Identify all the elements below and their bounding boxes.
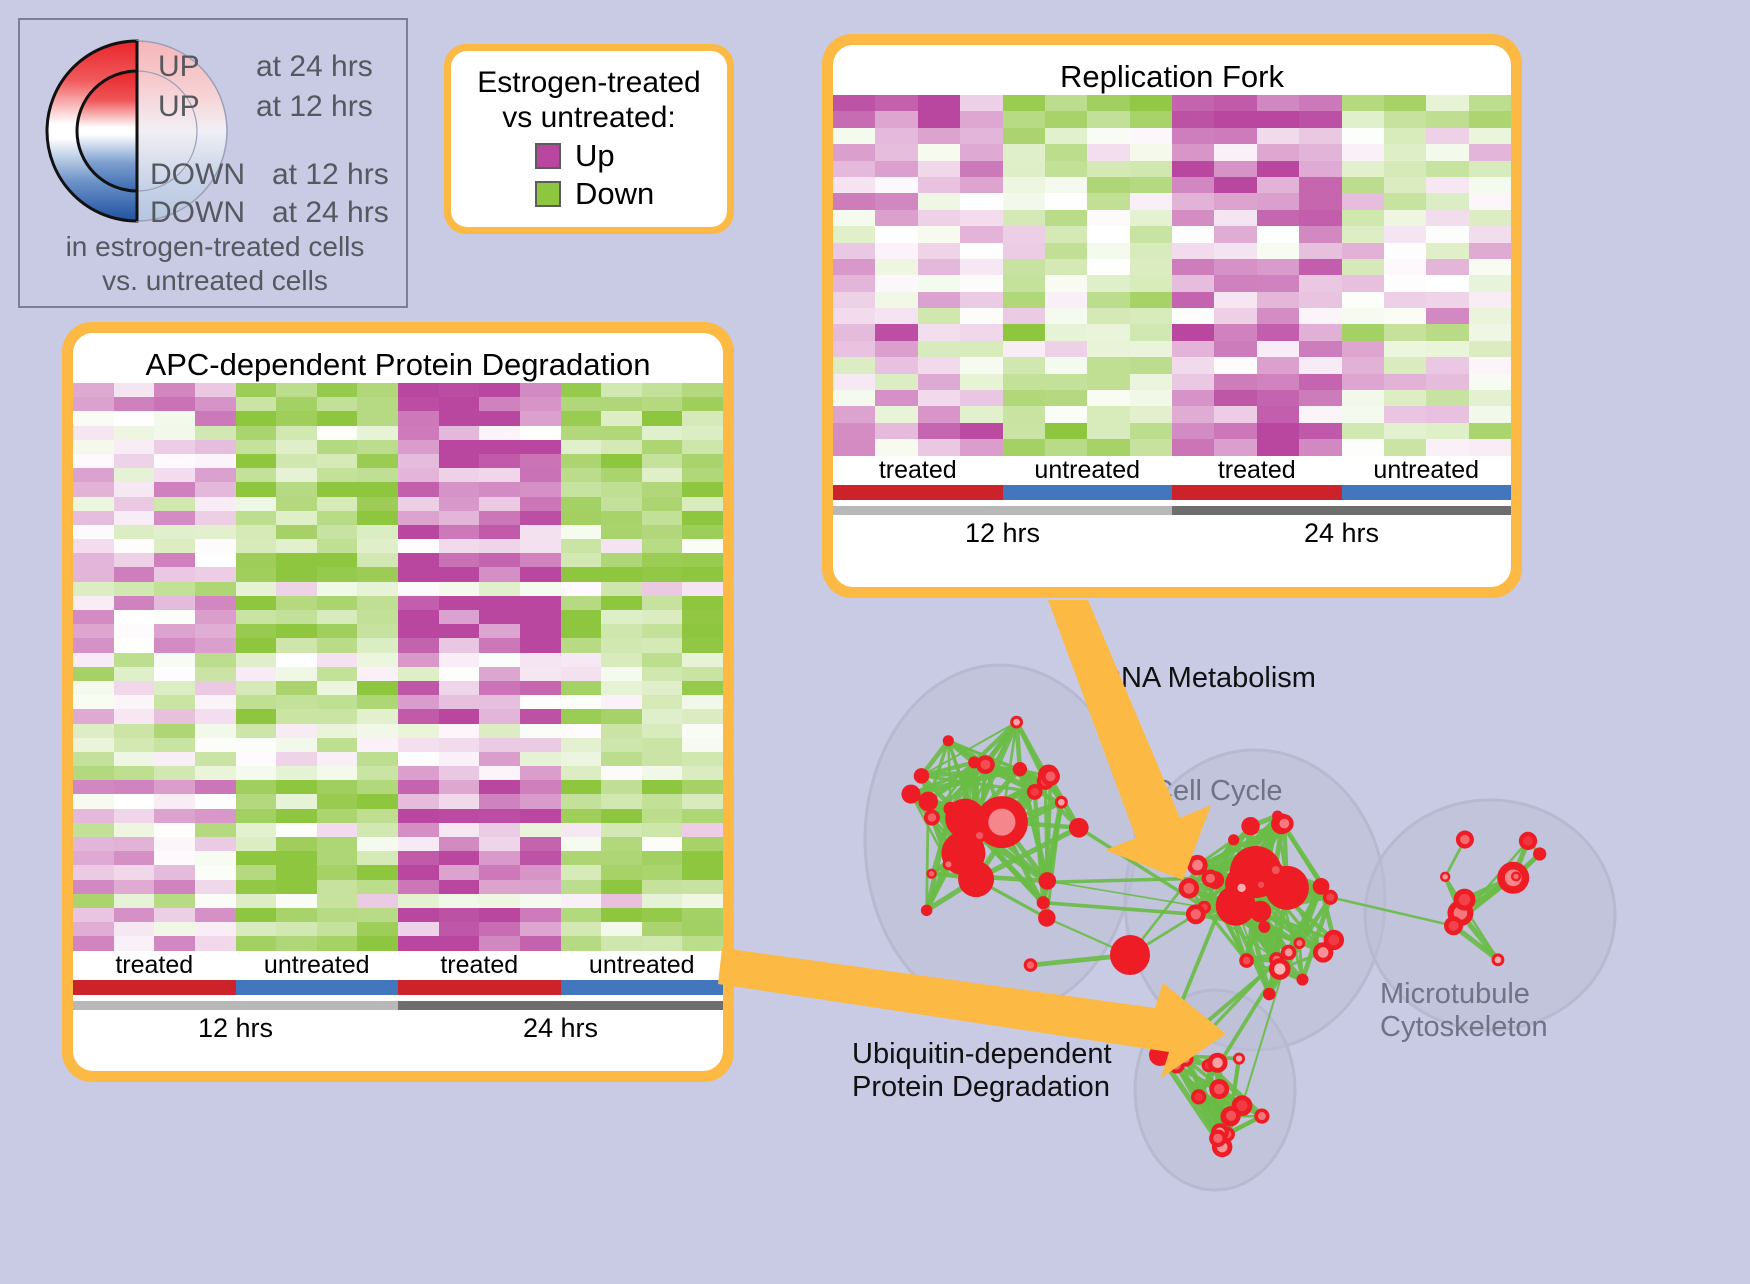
- heatmap-cell: [1045, 390, 1087, 406]
- network-node[interactable]: [1263, 988, 1276, 1001]
- heatmap-cell: [1426, 111, 1468, 127]
- heatmap-cell: [642, 894, 683, 908]
- network-node[interactable]: [1209, 1079, 1229, 1099]
- heatmap-row: [833, 275, 1511, 291]
- network-node[interactable]: [1440, 872, 1450, 882]
- heatmap-cell: [1172, 177, 1214, 193]
- heatmap-cell: [1045, 210, 1087, 226]
- heatmap-cell: [195, 653, 236, 667]
- legend-up-12-label: UP: [158, 90, 200, 124]
- heatmap-cell: [154, 922, 195, 936]
- heatmap-cell: [398, 794, 439, 808]
- heatmap-cell: [1172, 193, 1214, 209]
- heatmap-cell: [357, 454, 398, 468]
- heatmap-cell: [682, 766, 723, 780]
- heatmap-cell: [960, 292, 1002, 308]
- heatmap-cell: [960, 161, 1002, 177]
- heatmap-row: [833, 161, 1511, 177]
- heatmap-cell: [317, 497, 358, 511]
- apc-treatment-labels: treated untreated treated untreated: [73, 951, 723, 980]
- heatmap-cell: [1299, 439, 1341, 455]
- heatmap-cell: [154, 553, 195, 567]
- heatmap-cell: [357, 724, 398, 738]
- heatmap-cell: [439, 695, 480, 709]
- heatmap-cell: [561, 582, 602, 596]
- heatmap-cell: [317, 454, 358, 468]
- heatmap-row: [73, 667, 723, 681]
- heatmap-cell: [1257, 95, 1299, 111]
- heatmap-cell: [398, 383, 439, 397]
- network-node[interactable]: [926, 869, 936, 879]
- heatmap-cell: [1045, 243, 1087, 259]
- heatmap-cell: [73, 553, 114, 567]
- heatmap-cell: [561, 809, 602, 823]
- heatmap-cell: [1003, 292, 1045, 308]
- heatmap-cell: [520, 638, 561, 652]
- heatmap-cell: [73, 667, 114, 681]
- heatmap-cell: [317, 709, 358, 723]
- heatmap-cell: [154, 638, 195, 652]
- network-node[interactable]: [1254, 1109, 1269, 1124]
- heatmap-cell: [73, 837, 114, 851]
- network-node[interactable]: [1272, 811, 1283, 822]
- heatmap-cell: [561, 908, 602, 922]
- heatmap-cell: [357, 695, 398, 709]
- network-node[interactable]: [943, 859, 955, 871]
- heatmap-cell: [154, 809, 195, 823]
- heatmap-cell: [1469, 177, 1511, 193]
- heatmap-cell: [73, 709, 114, 723]
- heatmap-cell: [960, 406, 1002, 422]
- network-node[interactable]: [1519, 832, 1537, 850]
- heatmap-cell: [1469, 210, 1511, 226]
- rf-time-bars: [833, 506, 1511, 515]
- heatmap-cell: [960, 324, 1002, 340]
- heatmap-cell: [398, 894, 439, 908]
- network-node[interactable]: [967, 808, 983, 824]
- heatmap-cell: [1003, 341, 1045, 357]
- heatmap-cell: [561, 638, 602, 652]
- heatmap-cell: [357, 482, 398, 496]
- heatmap-cell: [114, 383, 155, 397]
- heatmap-cell: [1426, 324, 1468, 340]
- heatmap-cell: [73, 426, 114, 440]
- network-node[interactable]: [1313, 878, 1330, 895]
- network-node[interactable]: [968, 756, 980, 768]
- heatmap-cell: [1469, 259, 1511, 275]
- heatmap-cell: [1384, 341, 1426, 357]
- heatmap-cell: [1087, 177, 1129, 193]
- heatmap-cell: [601, 596, 642, 610]
- heatmap-row: [833, 341, 1511, 357]
- heatmap-cell: [317, 610, 358, 624]
- heatmap-cell: [73, 624, 114, 638]
- heatmap-cell: [918, 243, 960, 259]
- heatmap-cell: [398, 397, 439, 411]
- heatmap-cell: [236, 936, 277, 950]
- network-node[interactable]: [1179, 878, 1200, 899]
- heatmap-cell: [398, 837, 439, 851]
- heatmap-cell: [1214, 210, 1256, 226]
- heatmap-cell: [1426, 390, 1468, 406]
- heatmap-cell: [114, 454, 155, 468]
- heatmap-cell: [398, 738, 439, 752]
- heatmap-cell: [1214, 439, 1256, 455]
- heatmap-cell: [833, 243, 875, 259]
- network-node[interactable]: [958, 861, 994, 897]
- network-node[interactable]: [1250, 901, 1272, 923]
- heatmap-cell: [960, 390, 1002, 406]
- heatmap-cell: [1257, 128, 1299, 144]
- heatmap-cell: [439, 865, 480, 879]
- network-node[interactable]: [1041, 767, 1060, 786]
- heatmap-cell: [520, 624, 561, 638]
- heatmap-row: [73, 880, 723, 894]
- heatmap-cell: [1003, 95, 1045, 111]
- heatmap-cell: [439, 525, 480, 539]
- heatmap-cell: [1426, 423, 1468, 439]
- heatmap-cell: [601, 752, 642, 766]
- network-node[interactable]: [1234, 880, 1250, 896]
- network-node[interactable]: [1013, 762, 1027, 776]
- network-node[interactable]: [1258, 921, 1270, 933]
- heatmap-cell: [875, 423, 917, 439]
- heatmap-cell: [114, 610, 155, 624]
- heatmap-cell: [833, 374, 875, 390]
- up-color-swatch: [535, 143, 561, 169]
- rf-treat-bar-2: [1172, 485, 1342, 500]
- heatmap-cell: [357, 440, 398, 454]
- heatmap-cell: [642, 681, 683, 695]
- heatmap-cell: [520, 823, 561, 837]
- heatmap-cell: [642, 525, 683, 539]
- heatmap-row: [833, 423, 1511, 439]
- heatmap-cell: [114, 539, 155, 553]
- heatmap-row: [73, 908, 723, 922]
- network-node[interactable]: [1168, 1057, 1184, 1073]
- heatmap-cell: [114, 397, 155, 411]
- heatmap-cell: [960, 128, 1002, 144]
- heatmap-cell: [479, 610, 520, 624]
- network-node[interactable]: [944, 802, 958, 816]
- heatmap-cell: [317, 553, 358, 567]
- heatmap-cell: [520, 582, 561, 596]
- heatmap-row: [833, 95, 1511, 111]
- network-node[interactable]: [1110, 935, 1150, 975]
- network-node[interactable]: [1037, 896, 1050, 909]
- heatmap-cell: [398, 610, 439, 624]
- network-node[interactable]: [1069, 818, 1089, 838]
- heatmap-cell: [1045, 111, 1087, 127]
- heatmap-cell: [1384, 243, 1426, 259]
- heatmap-cell: [520, 653, 561, 667]
- heatmap-cell: [1045, 193, 1087, 209]
- heatmap-cell: [1003, 374, 1045, 390]
- heatmap-cell: [1045, 423, 1087, 439]
- heatmap-cell: [1130, 308, 1172, 324]
- network-node[interactable]: [1221, 1106, 1240, 1125]
- heatmap-cell: [1342, 177, 1384, 193]
- heatmap-row: [73, 553, 723, 567]
- heatmap-cell: [276, 667, 317, 681]
- heatmap-cell: [642, 454, 683, 468]
- heatmap-cell: [398, 780, 439, 794]
- heatmap-cell: [918, 111, 960, 127]
- heatmap-cell: [357, 426, 398, 440]
- heatmap-cell: [1469, 243, 1511, 259]
- heatmap-cell: [114, 809, 155, 823]
- heatmap-cell: [1384, 292, 1426, 308]
- key-row-up: Up: [535, 138, 717, 174]
- heatmap-cell: [1342, 243, 1384, 259]
- heatmap-cell: [154, 397, 195, 411]
- heatmap-row: [73, 511, 723, 525]
- legend-down-24-label: DOWN: [150, 196, 245, 230]
- heatmap-cell: [479, 709, 520, 723]
- heatmap-cell: [236, 482, 277, 496]
- network-node[interactable]: [1297, 974, 1309, 986]
- legend-footer-line2: vs. untreated cells: [20, 264, 410, 298]
- network-node[interactable]: [1186, 904, 1206, 924]
- heatmap-cell: [561, 851, 602, 865]
- heatmap-cell: [357, 653, 398, 667]
- up-label: Up: [575, 138, 615, 174]
- panel-apc-title: APC-dependent Protein Degradation: [73, 333, 723, 383]
- heatmap-cell: [1299, 292, 1341, 308]
- heatmap-cell: [439, 851, 480, 865]
- heatmap-cell: [642, 667, 683, 681]
- network-node[interactable]: [921, 905, 932, 916]
- heatmap-cell: [1469, 111, 1511, 127]
- heatmap-cell: [317, 440, 358, 454]
- network-node[interactable]: [1209, 1129, 1227, 1147]
- heatmap-cell: [1087, 308, 1129, 324]
- heatmap-cell: [1299, 128, 1341, 144]
- heatmap-cell: [276, 880, 317, 894]
- network-node[interactable]: [1024, 958, 1038, 972]
- heatmap-cell: [601, 738, 642, 752]
- heatmap-cell: [73, 454, 114, 468]
- heatmap-cell: [154, 851, 195, 865]
- network-node[interactable]: [1533, 847, 1546, 860]
- network-node[interactable]: [1010, 716, 1023, 729]
- heatmap-cell: [601, 497, 642, 511]
- apc-treat-bar-1: [236, 980, 399, 995]
- heatmap-cell: [1003, 210, 1045, 226]
- network-node[interactable]: [1149, 1044, 1171, 1066]
- heatmap-cell: [642, 482, 683, 496]
- heatmap-cell: [875, 324, 917, 340]
- heatmap-cell: [317, 397, 358, 411]
- network-node[interactable]: [1268, 862, 1283, 877]
- heatmap-cell: [154, 383, 195, 397]
- heatmap-cell: [875, 439, 917, 455]
- heatmap-cell: [276, 724, 317, 738]
- heatmap-cell: [154, 653, 195, 667]
- heatmap-cell: [1342, 341, 1384, 357]
- heatmap-cell: [520, 908, 561, 922]
- heatmap-cell: [73, 794, 114, 808]
- network-node[interactable]: [1255, 879, 1267, 891]
- network-node[interactable]: [1191, 1089, 1206, 1104]
- heatmap-cell: [1003, 423, 1045, 439]
- heatmap-cell: [73, 383, 114, 397]
- heatmap-cell: [642, 582, 683, 596]
- heatmap-cell: [276, 638, 317, 652]
- heatmap-cell: [195, 624, 236, 638]
- heatmap-cell: [918, 193, 960, 209]
- heatmap-cell: [236, 695, 277, 709]
- heatmap-cell: [642, 851, 683, 865]
- heatmap-cell: [1342, 144, 1384, 160]
- network-node[interactable]: [943, 735, 954, 746]
- heatmap-cell: [960, 144, 1002, 160]
- heatmap-row: [73, 695, 723, 709]
- heatmap-cell: [561, 823, 602, 837]
- heatmap-apc: [73, 383, 723, 951]
- heatmap-cell: [520, 511, 561, 525]
- heatmap-cell: [520, 738, 561, 752]
- network-node[interactable]: [1492, 953, 1505, 966]
- updown-key-title: Estrogen-treated vs untreated:: [461, 65, 717, 136]
- heatmap-cell: [154, 738, 195, 752]
- apc-treatment-bars: [73, 980, 723, 995]
- heatmap-cell: [601, 837, 642, 851]
- heatmap-cell: [236, 794, 277, 808]
- heatmap-cell: [561, 794, 602, 808]
- heatmap-cell: [918, 341, 960, 357]
- heatmap-cell: [960, 275, 1002, 291]
- legend-down-24-time: at 24 hrs: [272, 196, 389, 230]
- heatmap-cell: [276, 411, 317, 425]
- heatmap-cell: [1214, 308, 1256, 324]
- heatmap-cell: [276, 709, 317, 723]
- heatmap-cell: [1214, 374, 1256, 390]
- network-node[interactable]: [1456, 831, 1474, 849]
- heatmap-cell: [276, 397, 317, 411]
- network-node[interactable]: [914, 768, 929, 783]
- heatmap-cell: [357, 894, 398, 908]
- heatmap-cell: [276, 865, 317, 879]
- network-node[interactable]: [1040, 875, 1054, 889]
- heatmap-cell: [1257, 259, 1299, 275]
- heatmap-cell: [682, 653, 723, 667]
- heatmap-cell: [73, 397, 114, 411]
- network-node[interactable]: [1202, 869, 1220, 887]
- heatmap-cell: [875, 406, 917, 422]
- heatmap-cell: [357, 752, 398, 766]
- heatmap-cell: [601, 567, 642, 581]
- heatmap-row: [73, 596, 723, 610]
- heatmap-cell: [1172, 243, 1214, 259]
- network-node[interactable]: [901, 785, 920, 804]
- network-node[interactable]: [1324, 930, 1344, 950]
- heatmap-cell: [114, 582, 155, 596]
- heatmap-cell: [601, 894, 642, 908]
- apc-time-label-1: 24 hrs: [398, 1013, 723, 1044]
- heatmap-cell: [195, 724, 236, 738]
- network-node[interactable]: [973, 829, 987, 843]
- heatmap-cell: [642, 468, 683, 482]
- network-node[interactable]: [1208, 1053, 1228, 1073]
- rf-treat-bar-3: [1342, 485, 1512, 500]
- heatmap-cell: [236, 383, 277, 397]
- heatmap-cell: [1003, 111, 1045, 127]
- heatmap-cell: [398, 653, 439, 667]
- heatmap-cell: [276, 567, 317, 581]
- network-node[interactable]: [918, 792, 938, 812]
- heatmap-cell: [1342, 308, 1384, 324]
- heatmap-cell: [73, 922, 114, 936]
- heatmap-cell: [520, 411, 561, 425]
- heatmap-cell: [1003, 243, 1045, 259]
- network-node[interactable]: [1239, 953, 1254, 968]
- heatmap-row: [833, 390, 1511, 406]
- heatmap-cell: [1342, 374, 1384, 390]
- heatmap-row: [73, 468, 723, 482]
- heatmap-cell: [154, 724, 195, 738]
- heatmap-cell: [875, 177, 917, 193]
- network-node[interactable]: [924, 810, 940, 826]
- heatmap-cell: [276, 511, 317, 525]
- heatmap-cell: [1087, 390, 1129, 406]
- heatmap-cell: [317, 766, 358, 780]
- heatmap-cell: [73, 582, 114, 596]
- network-node[interactable]: [1228, 834, 1239, 845]
- network-node[interactable]: [1511, 871, 1521, 881]
- heatmap-cell: [960, 439, 1002, 455]
- heatmap-row: [833, 374, 1511, 390]
- rf-treatment-labels: treated untreated treated untreated: [833, 456, 1511, 485]
- apc-treat-label-2: treated: [398, 951, 561, 980]
- heatmap-cell: [1469, 439, 1511, 455]
- network-node[interactable]: [1219, 891, 1231, 903]
- network-node[interactable]: [1269, 958, 1291, 980]
- network-node[interactable]: [1444, 916, 1463, 935]
- heatmap-cell: [154, 880, 195, 894]
- heatmap-cell: [1342, 406, 1384, 422]
- heatmap-cell: [276, 653, 317, 667]
- heatmap-cell: [195, 908, 236, 922]
- heatmap-cell: [1214, 128, 1256, 144]
- heatmap-cell: [439, 724, 480, 738]
- network-node[interactable]: [1241, 817, 1259, 835]
- heatmap-cell: [1003, 193, 1045, 209]
- network-node[interactable]: [1294, 937, 1306, 949]
- heatmap-cell: [357, 766, 398, 780]
- network-node[interactable]: [1454, 889, 1476, 911]
- heatmap-cell: [236, 922, 277, 936]
- heatmap-cell: [195, 752, 236, 766]
- heatmap-cell: [960, 177, 1002, 193]
- heatmap-cell: [398, 638, 439, 652]
- network-node[interactable]: [1055, 796, 1068, 809]
- heatmap-cell: [642, 766, 683, 780]
- network-node[interactable]: [1038, 909, 1055, 926]
- heatmap-cell: [1469, 144, 1511, 160]
- heatmap-cell: [520, 936, 561, 950]
- heatmap-cell: [1342, 324, 1384, 340]
- network-node[interactable]: [1233, 1053, 1245, 1065]
- heatmap-cell: [317, 539, 358, 553]
- heatmap-cell: [357, 823, 398, 837]
- heatmap-cell: [195, 638, 236, 652]
- heatmap-cell: [114, 511, 155, 525]
- heatmap-cell: [833, 226, 875, 242]
- heatmap-cell: [236, 582, 277, 596]
- network-node[interactable]: [1027, 784, 1043, 800]
- heatmap-cell: [1130, 144, 1172, 160]
